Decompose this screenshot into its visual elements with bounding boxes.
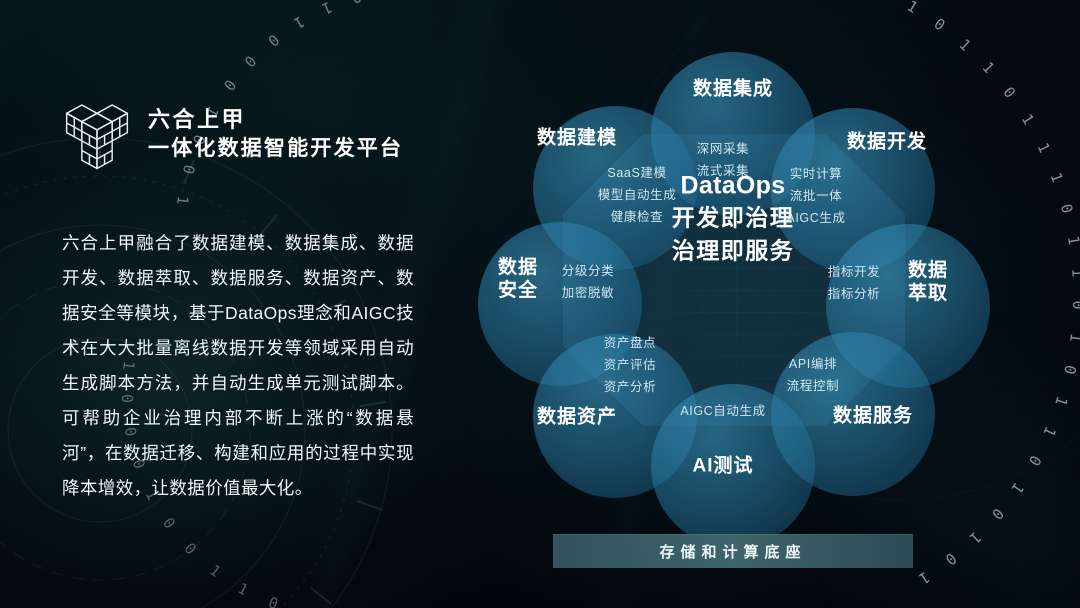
brand-text: 六合上甲 一体化数据智能开发平台 [148,107,403,161]
brand-name: 六合上甲 [148,107,403,133]
venn-circles [455,16,1015,536]
left-panel: 六合上甲 一体化数据智能开发平台 六合上甲融合了数据建模、数据集成、数据开发、数… [62,94,442,506]
foundation-bar: 存储和计算底座 [553,534,913,568]
foundation-bar-label: 存储和计算底座 [659,541,806,562]
dataops-venn-diagram: 数据集成 数据建模 数据开发 数据安全 数据萃取 数据资产 数据服务 AI测试 … [455,16,1015,536]
slide-canvas: 0 1 1 0 0 0 1 0 0 1 0 0 1 1 1 0 0 0 1 0 … [0,0,1080,608]
brand-block: 六合上甲 一体化数据智能开发平台 [62,94,442,174]
brand-subtitle: 一体化数据智能开发平台 [148,137,403,161]
isometric-brick-logo-icon [62,94,132,174]
product-description: 六合上甲融合了数据建模、数据集成、数据开发、数据萃取、数据服务、数据资产、数据安… [62,226,414,506]
